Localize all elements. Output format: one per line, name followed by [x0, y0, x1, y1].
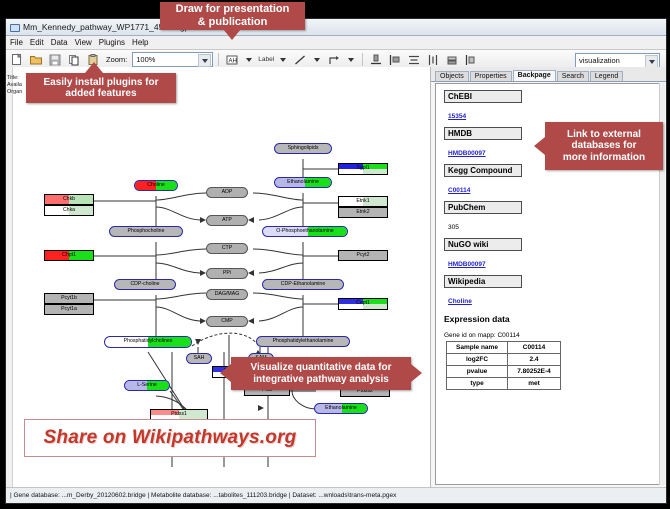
bring-front-icon[interactable]	[463, 52, 479, 68]
node-label: CDP-choline	[130, 282, 159, 287]
label-tool-label[interactable]: Label	[258, 56, 274, 63]
node-label: ATP	[222, 218, 232, 223]
label-dropdown-icon[interactable]	[277, 53, 289, 67]
callout-link-text: Link to external databases for more info…	[563, 129, 645, 164]
node-phosphatidylcholines[interactable]: Phosphatidylcholines	[104, 336, 192, 348]
node-cdp-ethanolamine[interactable]: CDP-Ethanolamine	[262, 279, 344, 290]
callout-plugins-text: Easily install plugins for added feature…	[43, 77, 158, 100]
node-label: Etnk1	[356, 199, 369, 204]
expression-table: Sample name C00114 log2FC 2.4 pvalue 7.8…	[446, 341, 561, 390]
row-key: log2FC	[447, 354, 508, 366]
node-label: Ethanolamine	[287, 180, 319, 185]
node-sgpl1[interactable]: Sgpl1	[338, 163, 388, 175]
row-value: 2.4	[508, 354, 561, 366]
node-chka[interactable]: Chka	[44, 205, 94, 216]
db-link-hmdb[interactable]: HMDB00097	[448, 150, 486, 157]
new-file-icon[interactable]	[9, 52, 25, 68]
db-name-hmdb: HMDB	[444, 127, 522, 140]
menu-item-data[interactable]: Data	[51, 38, 68, 47]
node-ctp[interactable]: CTP	[206, 243, 248, 254]
node-chkb[interactable]: Chkb	[44, 194, 94, 205]
node-label: Chkb	[63, 197, 75, 202]
open-folder-icon[interactable]	[28, 52, 44, 68]
table-row: log2FC 2.4	[447, 354, 561, 366]
callout-draw: Draw for presentation & publication	[160, 2, 305, 30]
copy-icon[interactable]	[66, 52, 82, 68]
node-label: Chpt1	[62, 253, 76, 258]
align-left-icon[interactable]	[387, 52, 403, 68]
node-sah[interactable]: SAH	[186, 353, 212, 364]
callout-draw-pointer	[223, 29, 241, 40]
arrow-shape-icon[interactable]	[326, 52, 342, 68]
node-ethanolamine-top[interactable]: Ethanolamine	[274, 177, 332, 188]
menu-item-help[interactable]: Help	[132, 38, 148, 47]
callout-plugins: Easily install plugins for added feature…	[26, 73, 176, 103]
zoom-combo[interactable]: 100%	[132, 52, 213, 67]
line-icon[interactable]	[292, 52, 308, 68]
status-bar: | Gene database: ...m_Derby_20120602.bri…	[6, 487, 666, 503]
db-value-pubchem: 305	[448, 224, 459, 231]
node-etnk2[interactable]: Etnk2	[338, 207, 388, 218]
toolbar-separator-2	[362, 53, 363, 66]
node-label: CDP-Ethanolamine	[281, 282, 325, 287]
node-label: O-Phosphoethanolamine	[276, 229, 333, 234]
node-label: CTP	[222, 246, 232, 251]
node-label: ADP	[222, 190, 233, 195]
node-pcyt2[interactable]: Pcyt2	[338, 250, 388, 261]
node-label: Phosphatidylethanolamine	[273, 339, 334, 344]
menu-item-file[interactable]: File	[10, 38, 23, 47]
toolbar-separator	[218, 53, 219, 66]
db-link-wikipedia[interactable]: Choline	[448, 298, 472, 305]
side-panel-tabs: Objects Properties Backpage Search Legen…	[431, 67, 666, 82]
node-pcyt1a[interactable]: Pcyt1a	[44, 304, 94, 315]
node-etnk1[interactable]: Etnk1	[338, 196, 388, 207]
row-key: Sample name	[447, 342, 508, 354]
distribute-vertical-icon[interactable]	[406, 52, 422, 68]
table-row: type met	[447, 378, 561, 390]
callout-link-pointer	[534, 137, 545, 155]
db-entry-pubchem: PubChem 305	[444, 201, 661, 238]
title-bar: Mm_Kennedy_pathway_WP1771_45176.gpml	[6, 19, 666, 36]
callout-plugins-pointer	[85, 62, 103, 73]
table-row: pvalue 7.80252E-4	[447, 366, 561, 378]
row-key: type	[447, 378, 508, 390]
menu-item-edit[interactable]: Edit	[30, 38, 44, 47]
node-label: Choline	[147, 183, 165, 188]
tab-objects[interactable]: Objects	[435, 71, 469, 81]
node-l-serine-left[interactable]: L-Serine	[124, 380, 170, 391]
node-label: Ptdss1	[171, 412, 187, 417]
tab-legend[interactable]: Legend	[590, 71, 623, 81]
db-link-nugo[interactable]: HMDB00097	[448, 261, 486, 268]
menu-item-plugins[interactable]: Plugins	[99, 38, 125, 47]
node-phosphatidylethanolamine[interactable]: Phosphatidylethanolamine	[256, 336, 350, 347]
node-label: Sphingolipids	[288, 146, 319, 151]
screenshot-root: Mm_Kennedy_pathway_WP1771_45176.gpml Fil…	[0, 0, 670, 509]
db-entry-wikipedia: Wikipedia Choline	[444, 275, 661, 312]
node-label: L-Serine	[137, 383, 157, 388]
arrow-dropdown-icon[interactable]	[345, 53, 357, 67]
save-icon[interactable]	[47, 52, 63, 68]
node-dagmag[interactable]: DAG/MAG	[206, 289, 248, 300]
node-ppi[interactable]: PPi	[206, 268, 248, 279]
node-label: Etnk2	[356, 210, 369, 215]
callout-visualize: Visualize quantitative data for integrat…	[231, 357, 411, 390]
row-value: 7.80252E-4	[508, 366, 561, 378]
callout-draw-text: Draw for presentation & publication	[176, 3, 290, 28]
stack-icon[interactable]	[444, 52, 460, 68]
visualization-combo[interactable]: visualization	[575, 53, 660, 68]
node-label: Pcyt1b	[61, 296, 77, 301]
node-label: Cept1	[356, 301, 370, 306]
node-o-phosphoethanolamine[interactable]: O-Phosphoethanolamine	[262, 226, 348, 237]
expression-data-title: Expression data	[444, 314, 661, 324]
node-chpt1[interactable]: Chpt1	[44, 250, 94, 261]
db-name-pubchem: PubChem	[444, 201, 522, 214]
node-label: Chka	[63, 208, 75, 213]
node-phosphocholine[interactable]: Phosphocholine	[109, 226, 183, 237]
db-link-kegg[interactable]: C00114	[448, 187, 470, 194]
menu-item-view[interactable]: View	[75, 38, 92, 47]
db-name-chebi: ChEBI	[444, 90, 522, 103]
node-cept1[interactable]: Cept1	[338, 298, 388, 310]
db-link-chebi[interactable]: 15354	[448, 113, 466, 120]
share-banner-text: Share on Wikipathways.org	[44, 427, 297, 449]
node-label: Pcyt2	[357, 253, 370, 258]
menu-bar: File Edit Data View Plugins Help	[6, 36, 666, 50]
tab-backpage[interactable]: Backpage	[513, 70, 556, 81]
zoom-label: Zoom:	[106, 55, 127, 64]
row-key: pvalue	[447, 366, 508, 378]
svg-text:AH: AH	[229, 58, 237, 64]
tab-search[interactable]: Search	[557, 71, 589, 81]
chevron-down-icon[interactable]	[198, 54, 211, 67]
node-label: CMP	[221, 319, 233, 324]
table-row: Sample name C00114	[447, 342, 561, 354]
node-pcyt1b[interactable]: Pcyt1b	[44, 293, 94, 304]
node-label: Ethanolamine	[325, 406, 357, 411]
text-box-dropdown-icon[interactable]	[243, 53, 255, 67]
node-atp[interactable]: ATP	[206, 215, 248, 226]
db-name-nugo: NuGO wiki	[444, 238, 522, 251]
visualization-value: visualization	[579, 56, 620, 65]
db-name-wikipedia: Wikipedia	[444, 275, 522, 288]
db-name-kegg: Kegg Compound	[444, 164, 522, 177]
callout-visualize-pointer-left	[220, 364, 231, 382]
node-label: Sgpl1	[356, 166, 369, 171]
callout-link: Link to external databases for more info…	[545, 122, 663, 170]
node-label: PPi	[223, 271, 231, 276]
node-adp[interactable]: ADP	[206, 187, 248, 198]
text-box-icon[interactable]: AH	[224, 52, 240, 68]
zoom-value: 100%	[136, 55, 155, 64]
node-cmp[interactable]: CMP	[206, 316, 248, 327]
db-entry-nugo: NuGO wiki HMDB00097	[444, 238, 661, 275]
node-sphingolipids[interactable]: Sphingolipids	[274, 143, 332, 154]
node-label: Phosphocholine	[128, 229, 165, 234]
gene-id-line: Gene id on mapp: C00114	[444, 332, 661, 339]
tab-properties[interactable]: Properties	[470, 71, 512, 81]
node-choline-top[interactable]: Choline	[134, 180, 178, 191]
node-label: SAH	[194, 356, 205, 361]
status-text: | Gene database: ...m_Derby_20120602.bri…	[10, 492, 396, 499]
node-ethanolamine-right[interactable]: Ethanolamine	[314, 403, 368, 414]
align-bottom-icon[interactable]	[368, 52, 384, 68]
row-value: C00114	[508, 342, 561, 354]
app-icon	[9, 22, 19, 32]
distribute-horizontal-icon[interactable]	[425, 52, 441, 68]
node-label: Phosphatidylcholines	[124, 339, 173, 344]
callout-visualize-text: Visualize quantitative data for integrat…	[251, 362, 392, 385]
callout-visualize-pointer-right	[411, 364, 422, 382]
row-value: met	[508, 378, 561, 390]
node-label: DAG/MAG	[215, 292, 240, 297]
share-banner: Share on Wikipathways.org	[24, 419, 316, 457]
node-cdp-choline[interactable]: CDP-choline	[114, 279, 176, 290]
node-label: Pcyt1a	[61, 307, 77, 312]
line-dropdown-icon[interactable]	[311, 53, 323, 67]
